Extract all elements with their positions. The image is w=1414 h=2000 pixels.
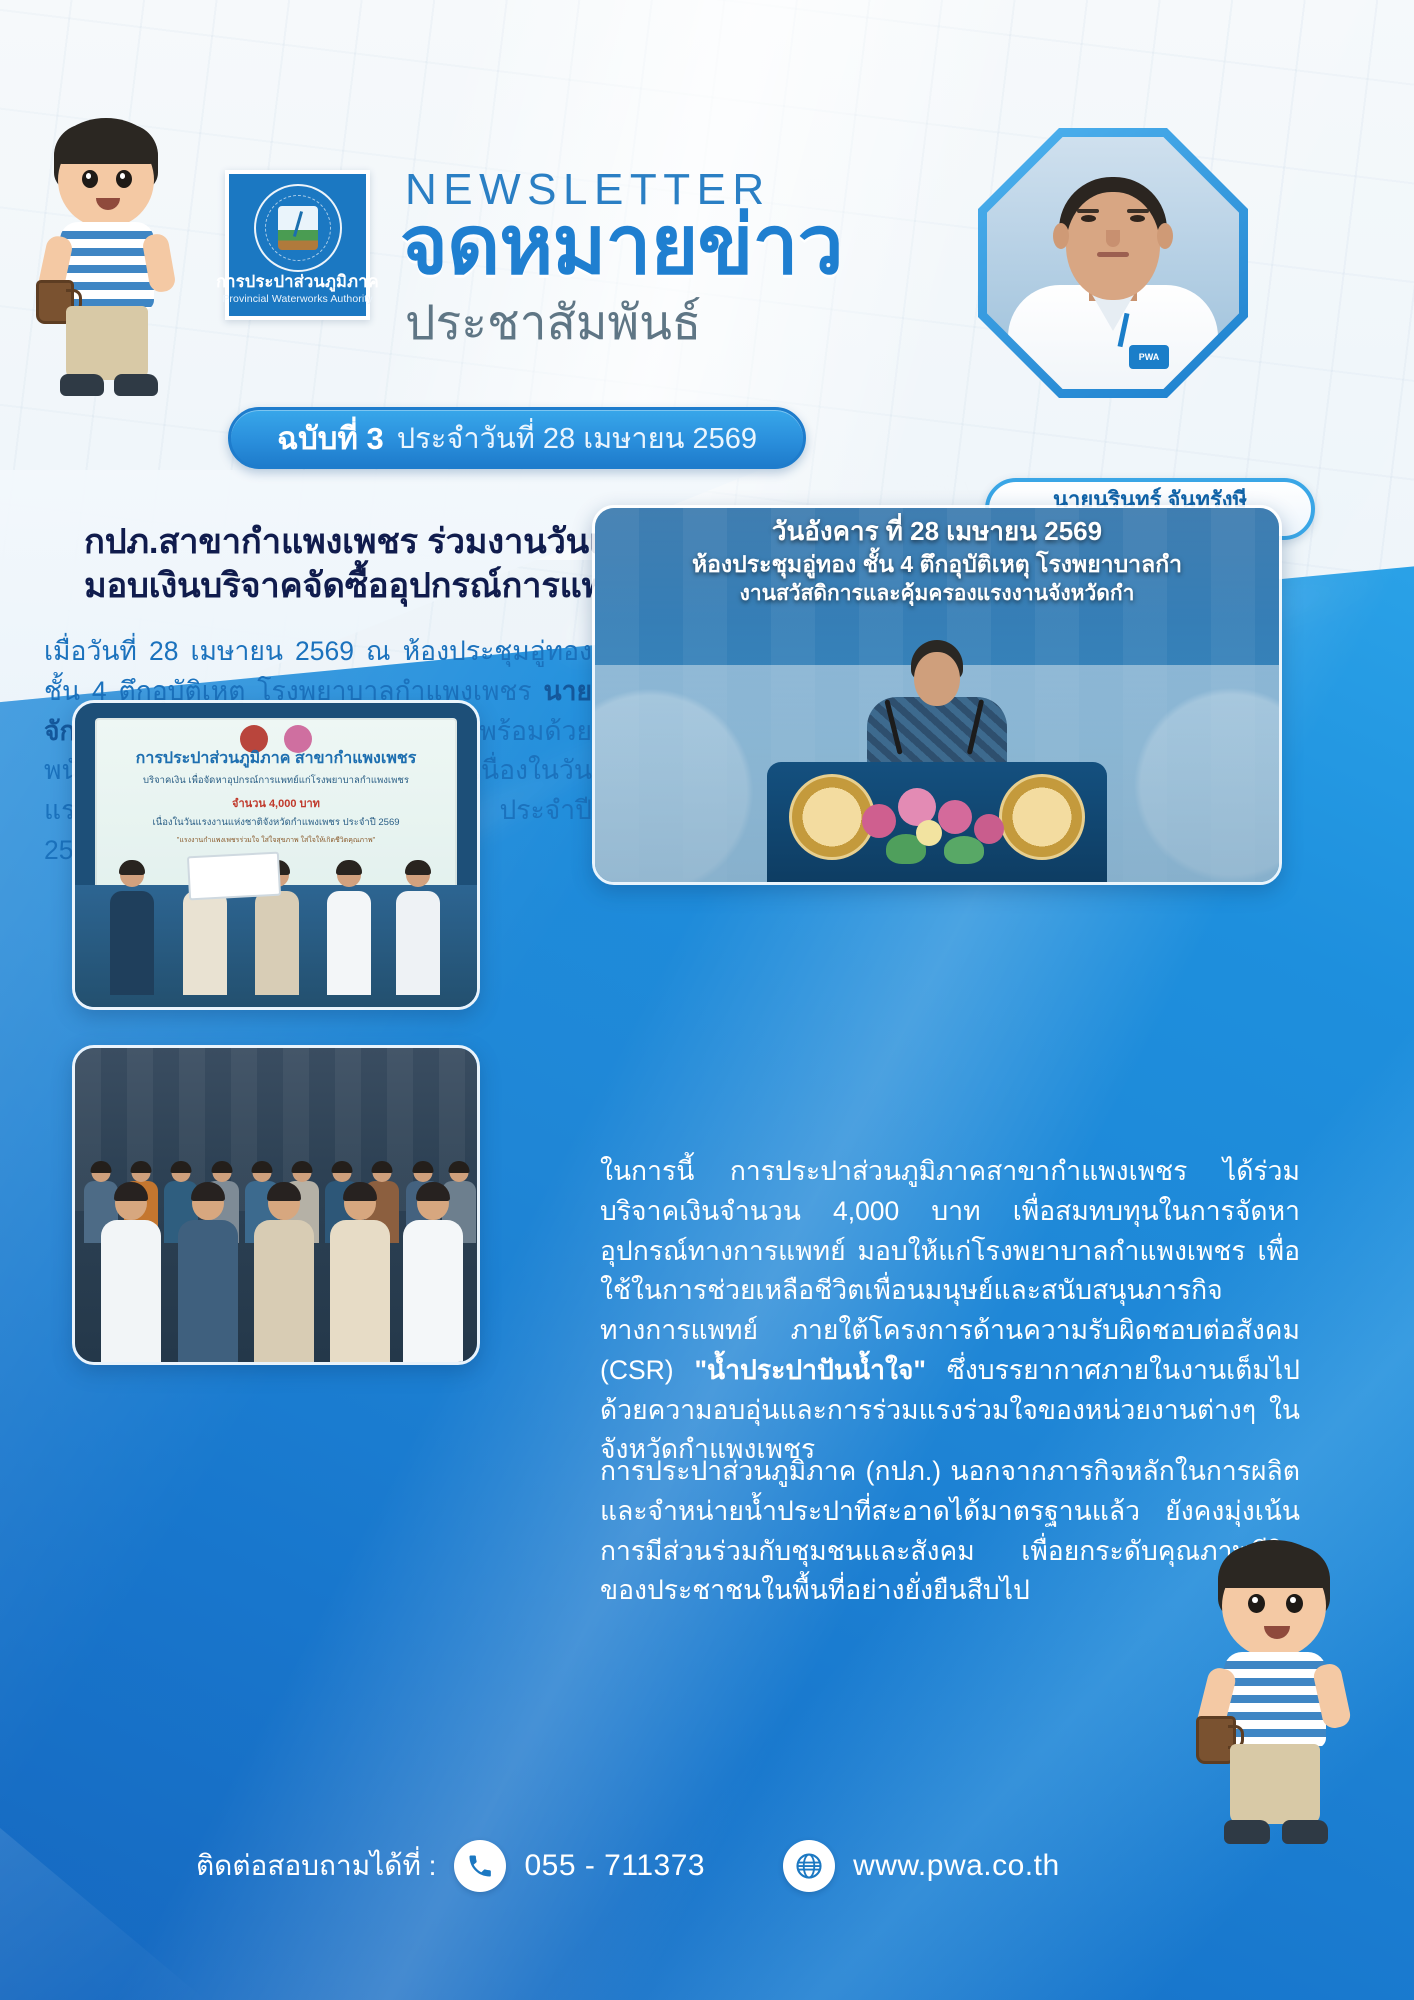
website-url[interactable]: www.pwa.co.th bbox=[853, 1849, 1060, 1883]
slide-line-2: บริจาคเงิน เพื่อจัดหาอุปกรณ์การแพทย์แก่โ… bbox=[95, 773, 457, 788]
photo-donation-handover: การประปาส่วนภูมิภาค สาขากำแพงเพชร บริจาค… bbox=[72, 700, 480, 1010]
body-p1-bold: "น้ำประปาปันน้ำใจ" bbox=[694, 1355, 926, 1385]
photo-caption-line-3: งานสวัสดิการและคุ้มครองแรงงานจังหวัดกำ bbox=[605, 580, 1269, 608]
body-paragraph-1: ในการนี้ การประปาส่วนภูมิภาคสาขากำแพงเพช… bbox=[600, 1152, 1300, 1470]
mascot-top-left bbox=[20, 118, 195, 418]
body-p1-part1: ในการนี้ การประปาส่วนภูมิภาคสาขากำแพงเพช… bbox=[600, 1156, 1300, 1385]
issue-badge: ฉบับที่ 3 ประจำวันที่ 28 เมษายน 2569 bbox=[228, 407, 806, 469]
manager-portrait: PWA bbox=[978, 128, 1248, 398]
slide-line-4: เนื่องในวันแรงงานแห่งชาติจังหวัดกำแพงเพช… bbox=[95, 815, 457, 830]
pwa-logo: การประปาส่วนภูมิภาค Provincial Waterwork… bbox=[225, 170, 370, 320]
page-subtitle: ประชาสัมพันธ์ bbox=[405, 300, 701, 348]
photo-podium-caption: วันอังคาร ที่ 28 เมษายน 2569 ห้องประชุมอ… bbox=[595, 514, 1279, 608]
slide-title: การประปาส่วนภูมิภาค สาขากำแพงเพชร bbox=[95, 746, 457, 771]
issue-number: ฉบับที่ 3 bbox=[277, 413, 384, 463]
phone-icon bbox=[454, 1840, 506, 1892]
pwa-badge-icon: PWA bbox=[1129, 345, 1169, 369]
portrait-frame: PWA bbox=[978, 128, 1248, 398]
photo-caption-line-2: ห้องประชุมอู่ทอง ชั้น 4 ตึกอุบัติเหตุ โร… bbox=[605, 549, 1269, 580]
newsletter-poster: การประปาส่วนภูมิภาค Provincial Waterwork… bbox=[0, 0, 1414, 2000]
slide-amount: จำนวน 4,000 บาท bbox=[95, 794, 457, 812]
page-title: จดหมายข่าว bbox=[400, 205, 843, 287]
photo-podium-speech: วันอังคาร ที่ 28 เมษายน 2569 ห้องประชุมอ… bbox=[592, 505, 1282, 885]
logo-text-thai: การประปาส่วนภูมิภาค bbox=[216, 274, 379, 291]
globe-icon bbox=[783, 1840, 835, 1892]
photo-caption-line-1: วันอังคาร ที่ 28 เมษายน 2569 bbox=[605, 514, 1269, 549]
footer-contact-row: ติดต่อสอบถามได้ที่ : 055 - 711373 www.pw… bbox=[196, 1840, 1060, 1892]
pwa-seal-icon bbox=[254, 184, 342, 272]
logo-text-english: Provincial Waterworks Authority bbox=[222, 294, 372, 305]
phone-number[interactable]: 055 - 711373 bbox=[524, 1849, 705, 1883]
contact-label: ติดต่อสอบถามได้ที่ : bbox=[196, 1844, 436, 1888]
intro-text-part1: เมื่อวันที่ 28 เมษายน 2569 ณ ห้องประชุมอ… bbox=[44, 636, 592, 706]
issue-date: ประจำวันที่ 28 เมษายน 2569 bbox=[397, 415, 757, 461]
slide-line-5: "แรงงานกำแพงเพชรร่วมใจ ใส่ใจสุขภาพ ใส่ใจ… bbox=[95, 835, 457, 846]
photo-group-portrait bbox=[72, 1045, 480, 1365]
